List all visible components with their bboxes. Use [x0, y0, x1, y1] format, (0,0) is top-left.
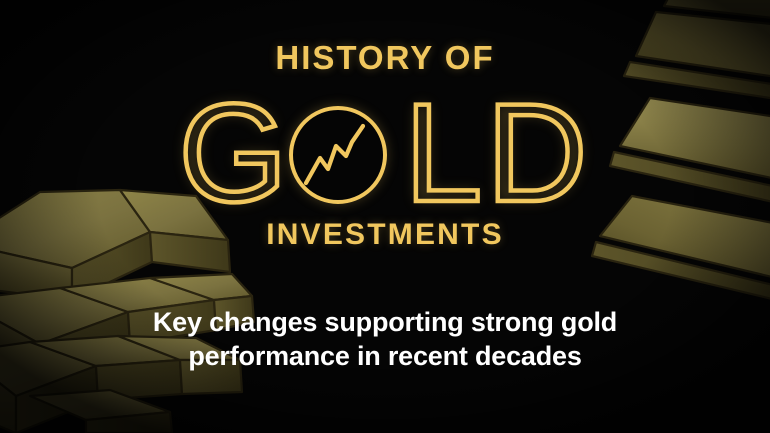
gold-o-medallion — [289, 106, 387, 204]
wordmark-letter-l: L — [404, 92, 486, 214]
page-subtitle: Key changes supporting strong gold perfo… — [0, 305, 770, 373]
page-subkicker: INVESTMENTS — [0, 216, 770, 254]
wordmark-letter-g: G — [179, 92, 292, 214]
gold-wordmark: GOLD — [0, 92, 770, 214]
subtitle-line-1: Key changes supporting strong gold — [0, 305, 770, 339]
wordmark-letter-d: D — [486, 92, 591, 214]
page-kicker: HISTORY OF — [0, 38, 770, 78]
gold-investments-poster: HISTORY OF GOLD INVESTMENTS Key changes … — [0, 0, 770, 433]
upward-trend-line-chart-icon — [303, 120, 373, 190]
subtitle-line-2: performance in recent decades — [0, 339, 770, 373]
